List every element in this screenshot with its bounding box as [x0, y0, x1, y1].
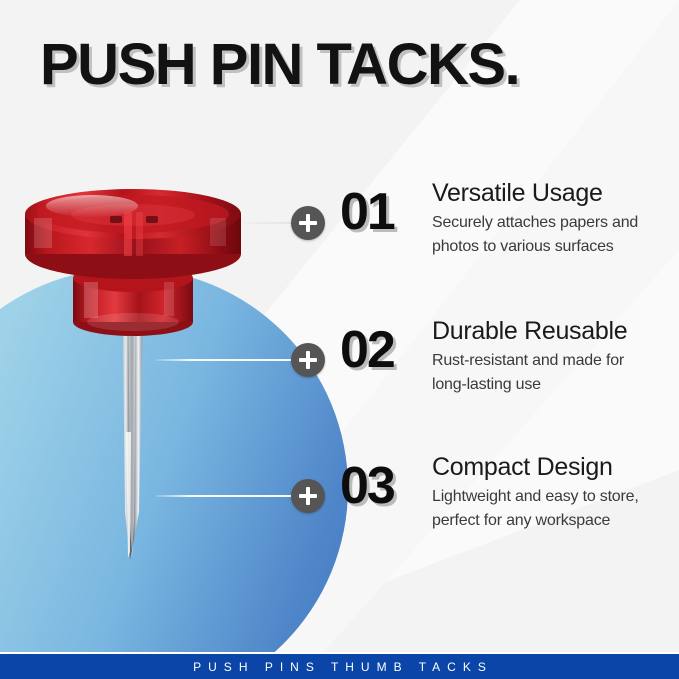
- feature-text-group: Versatile Usage Securely attaches papers…: [432, 178, 679, 259]
- feature-number: 03: [340, 460, 394, 512]
- feature-description: Securely attaches papers and photos to v…: [432, 211, 679, 259]
- feature-number: 01: [340, 186, 394, 238]
- footer-text: PUSH PINS THUMB TACKS: [186, 660, 493, 674]
- feature-heading: Versatile Usage: [432, 178, 679, 208]
- plus-icon-vertical-bar: [306, 487, 310, 505]
- feature-heading: Compact Design: [432, 452, 679, 482]
- plus-icon-vertical-bar: [306, 351, 310, 369]
- plus-icon-feature-3[interactable]: [291, 479, 325, 513]
- plus-icon-vertical-bar: [306, 214, 310, 232]
- feature-description-line: Lightweight and easy to store,: [432, 485, 679, 509]
- push-pin-product-image: [14, 182, 264, 572]
- feature-description-line: Securely attaches papers and: [432, 211, 679, 235]
- connector-line-2: [156, 359, 296, 361]
- feature-description-line: long-lasting use: [432, 373, 679, 397]
- product-infographic-poster: PUSH PIN TACKS.: [0, 0, 679, 679]
- plus-icon-feature-2[interactable]: [291, 343, 325, 377]
- connector-line-1: [243, 222, 295, 224]
- feature-text-group: Compact Design Lightweight and easy to s…: [432, 452, 679, 533]
- feature-number: 02: [340, 324, 394, 376]
- feature-description-line: perfect for any workspace: [432, 509, 679, 533]
- page-title: PUSH PIN TACKS.: [40, 34, 519, 96]
- feature-description: Rust-resistant and made for long-lasting…: [432, 349, 679, 397]
- plus-icon-feature-1[interactable]: [291, 206, 325, 240]
- connector-line-3: [156, 495, 296, 497]
- feature-description-line: Rust-resistant and made for: [432, 349, 679, 373]
- feature-description: Lightweight and easy to store, perfect f…: [432, 485, 679, 533]
- feature-heading: Durable Reusable: [432, 316, 679, 346]
- footer-banner: PUSH PINS THUMB TACKS: [0, 654, 679, 679]
- feature-text-group: Durable Reusable Rust-resistant and made…: [432, 316, 679, 397]
- feature-description-line: photos to various surfaces: [432, 235, 679, 259]
